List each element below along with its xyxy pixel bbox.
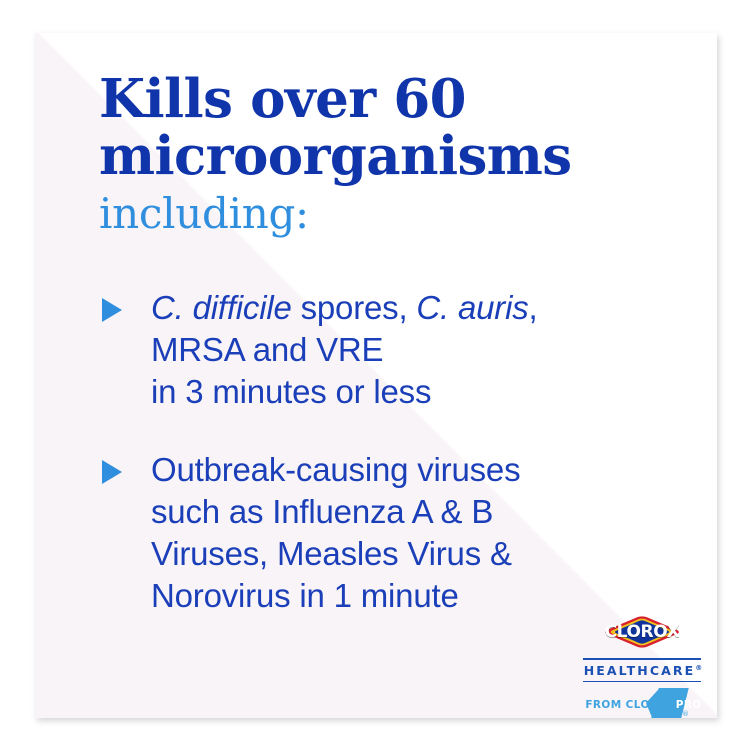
- from-cloroxpro-lockup: FROM CLOROXPRO ®: [581, 693, 703, 717]
- triangle-bullet-icon: [102, 298, 122, 322]
- pathogen-name-2: C. auris: [416, 289, 528, 326]
- screenshot-canvas: Kills over 60 microorganisms including: …: [0, 0, 750, 750]
- clorox-diamond-icon: CLOROX: [590, 608, 694, 655]
- pro-registered-mark: ®: [682, 710, 689, 718]
- list-item-text: Outbreak-causing viruses such as Influen…: [151, 449, 699, 617]
- list-item: Outbreak-causing viruses such as Influen…: [99, 449, 699, 617]
- subheadline: including:: [99, 187, 659, 241]
- triangle-bullet-icon: [102, 460, 122, 484]
- healthcare-text: HEALTHCARE: [584, 663, 696, 678]
- list-item-line: such as Influenza A & B: [151, 491, 699, 533]
- list-item-text: C. difficile spores, C. auris, MRSA and …: [151, 287, 699, 413]
- logo-rule-bottom: [583, 681, 701, 683]
- list-item-line: MRSA and VRE: [151, 329, 699, 371]
- list-item-line: Viruses, Measles Virus &: [151, 533, 699, 575]
- from-prefix-text: FROM CLOROX: [585, 699, 675, 711]
- list-item-line: C. difficile spores, C. auris,: [151, 287, 699, 329]
- list-item: C. difficile spores, C. auris, MRSA and …: [99, 287, 699, 413]
- clorox-wordmark: CLOROX: [590, 622, 694, 642]
- headline-line-2: microorganisms: [99, 128, 659, 185]
- claims-list: C. difficile spores, C. auris, MRSA and …: [99, 287, 699, 653]
- healthcare-wordmark: HEALTHCARE®: [581, 660, 703, 681]
- pathogen-trailing-comma: ,: [529, 289, 538, 326]
- product-claim-card: Kills over 60 microorganisms including: …: [35, 33, 717, 718]
- headline-line-1: Kills over 60: [99, 71, 659, 128]
- registered-mark: ®: [695, 663, 702, 671]
- list-item-line: Outbreak-causing viruses: [151, 449, 699, 491]
- list-item-line: in 3 minutes or less: [151, 371, 699, 413]
- pathogen-connector-1: spores,: [292, 289, 417, 326]
- headline-block: Kills over 60 microorganisms including:: [99, 71, 659, 241]
- pathogen-name-1: C. difficile: [151, 289, 292, 326]
- clorox-healthcare-logo: CLOROX HEALTHCARE® FROM CLOROXPRO ®: [581, 608, 703, 717]
